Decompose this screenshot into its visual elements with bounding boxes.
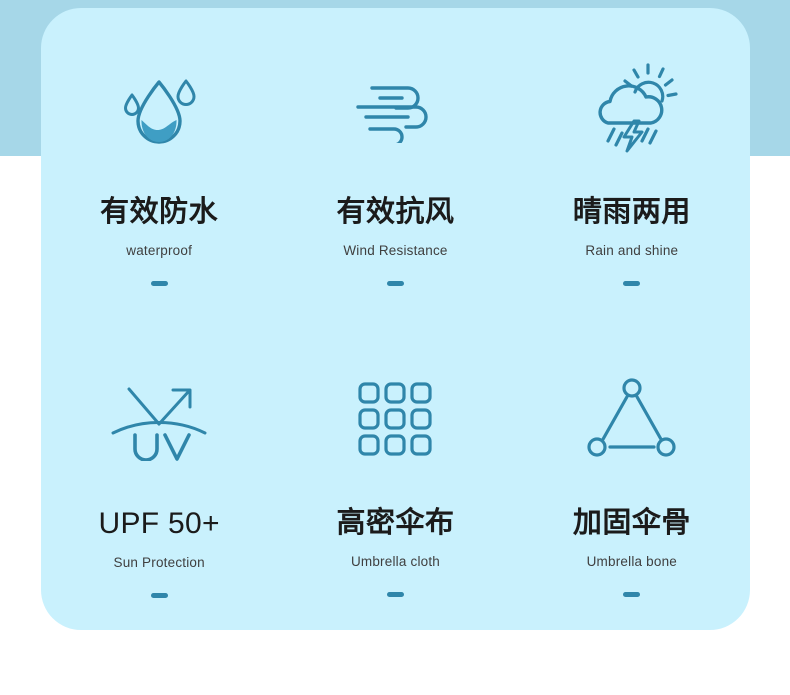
- storm-cloud-sun-icon: [584, 60, 680, 156]
- feature-title: 高密伞布: [336, 509, 454, 538]
- feature-card: 有效防水 waterproof 有效抗风 Wind Resistance: [41, 8, 750, 630]
- feature-item-waterproof: 有效防水 waterproof: [41, 8, 277, 286]
- fabric-grid-icon: [357, 371, 433, 467]
- feature-divider-dash: [151, 593, 168, 598]
- feature-divider-dash: [387, 281, 404, 286]
- feature-subtitle: Umbrella cloth: [351, 554, 440, 569]
- feature-title: 晴雨两用: [573, 198, 691, 227]
- feature-title: 加固伞骨: [573, 509, 691, 538]
- feature-title: UPF 50+: [99, 509, 220, 539]
- feature-item-sun-protection: UPF 50+ Sun Protection: [41, 319, 277, 598]
- feature-grid: 有效防水 waterproof 有效抗风 Wind Resistance: [41, 8, 750, 630]
- uv-protection-icon: [107, 371, 211, 467]
- feature-subtitle: Rain and shine: [585, 243, 678, 258]
- feature-subtitle: waterproof: [126, 243, 192, 258]
- feature-item-umbrella-bone: 加固伞骨 Umbrella bone: [514, 319, 750, 597]
- feature-divider-dash: [623, 592, 640, 597]
- feature-title: 有效抗风: [336, 198, 454, 227]
- feature-subtitle: Wind Resistance: [343, 243, 447, 258]
- feature-divider-dash: [623, 281, 640, 286]
- feature-title: 有效防水: [100, 198, 218, 227]
- water-drop-icon: [116, 60, 202, 156]
- wind-icon: [350, 60, 440, 156]
- feature-divider-dash: [151, 281, 168, 286]
- feature-divider-dash: [387, 592, 404, 597]
- feature-subtitle: Sun Protection: [113, 555, 204, 570]
- feature-subtitle: Umbrella bone: [587, 554, 677, 569]
- feature-item-rain-and-shine: 晴雨两用 Rain and shine: [514, 8, 750, 286]
- feature-item-umbrella-cloth: 高密伞布 Umbrella cloth: [277, 319, 513, 597]
- reinforced-frame-icon: [584, 371, 680, 467]
- feature-item-wind-resistance: 有效抗风 Wind Resistance: [277, 8, 513, 286]
